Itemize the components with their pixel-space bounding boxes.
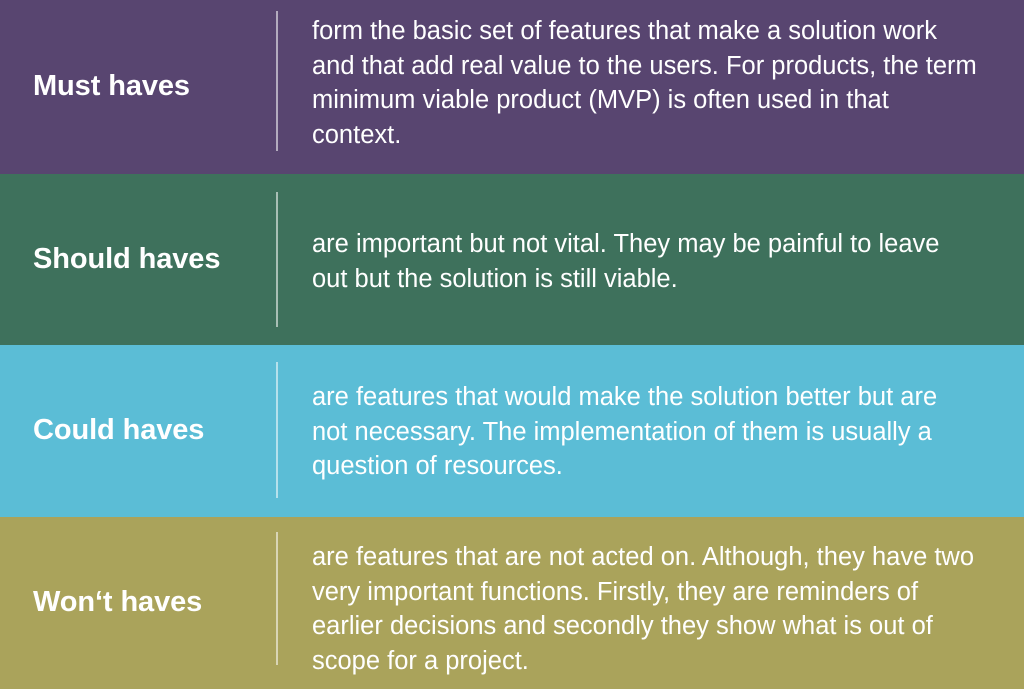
moscow-description-cell-could-haves: are features that would make the solutio…	[278, 345, 1024, 517]
moscow-description-cell-should-haves: are important but not vital. They may be…	[278, 174, 1024, 345]
moscow-description-cell-wont-haves: are features that are not acted on. Alth…	[278, 517, 1024, 689]
moscow-category-description: are important but not vital. They may be…	[312, 227, 978, 296]
moscow-row-wont-haves: Won‘t haves are features that are not ac…	[0, 517, 1024, 689]
row-divider-line	[276, 0, 278, 174]
moscow-row-must-haves: Must haves form the basic set of feature…	[0, 0, 1024, 174]
moscow-row-should-haves: Should haves are important but not vital…	[0, 174, 1024, 345]
moscow-category-description: are features that are not acted on. Alth…	[312, 540, 978, 679]
row-divider-line	[276, 345, 278, 517]
moscow-label-cell-could-haves: Could haves	[0, 345, 276, 517]
moscow-priority-board: Must haves form the basic set of feature…	[0, 0, 1024, 689]
moscow-category-description: are features that would make the solutio…	[312, 380, 978, 484]
moscow-label-cell-must-haves: Must haves	[0, 0, 276, 174]
moscow-category-label: Won‘t haves	[33, 586, 202, 619]
moscow-category-label: Could haves	[33, 414, 204, 447]
moscow-category-label: Must haves	[33, 70, 190, 103]
row-divider-line	[276, 174, 278, 345]
moscow-category-label: Should haves	[33, 243, 220, 276]
row-divider-line	[276, 517, 278, 689]
moscow-label-cell-wont-haves: Won‘t haves	[0, 517, 276, 689]
moscow-category-description: form the basic set of features that make…	[312, 14, 978, 153]
moscow-description-cell-must-haves: form the basic set of features that make…	[278, 0, 1024, 174]
moscow-label-cell-should-haves: Should haves	[0, 174, 276, 345]
moscow-row-could-haves: Could haves are features that would make…	[0, 345, 1024, 517]
